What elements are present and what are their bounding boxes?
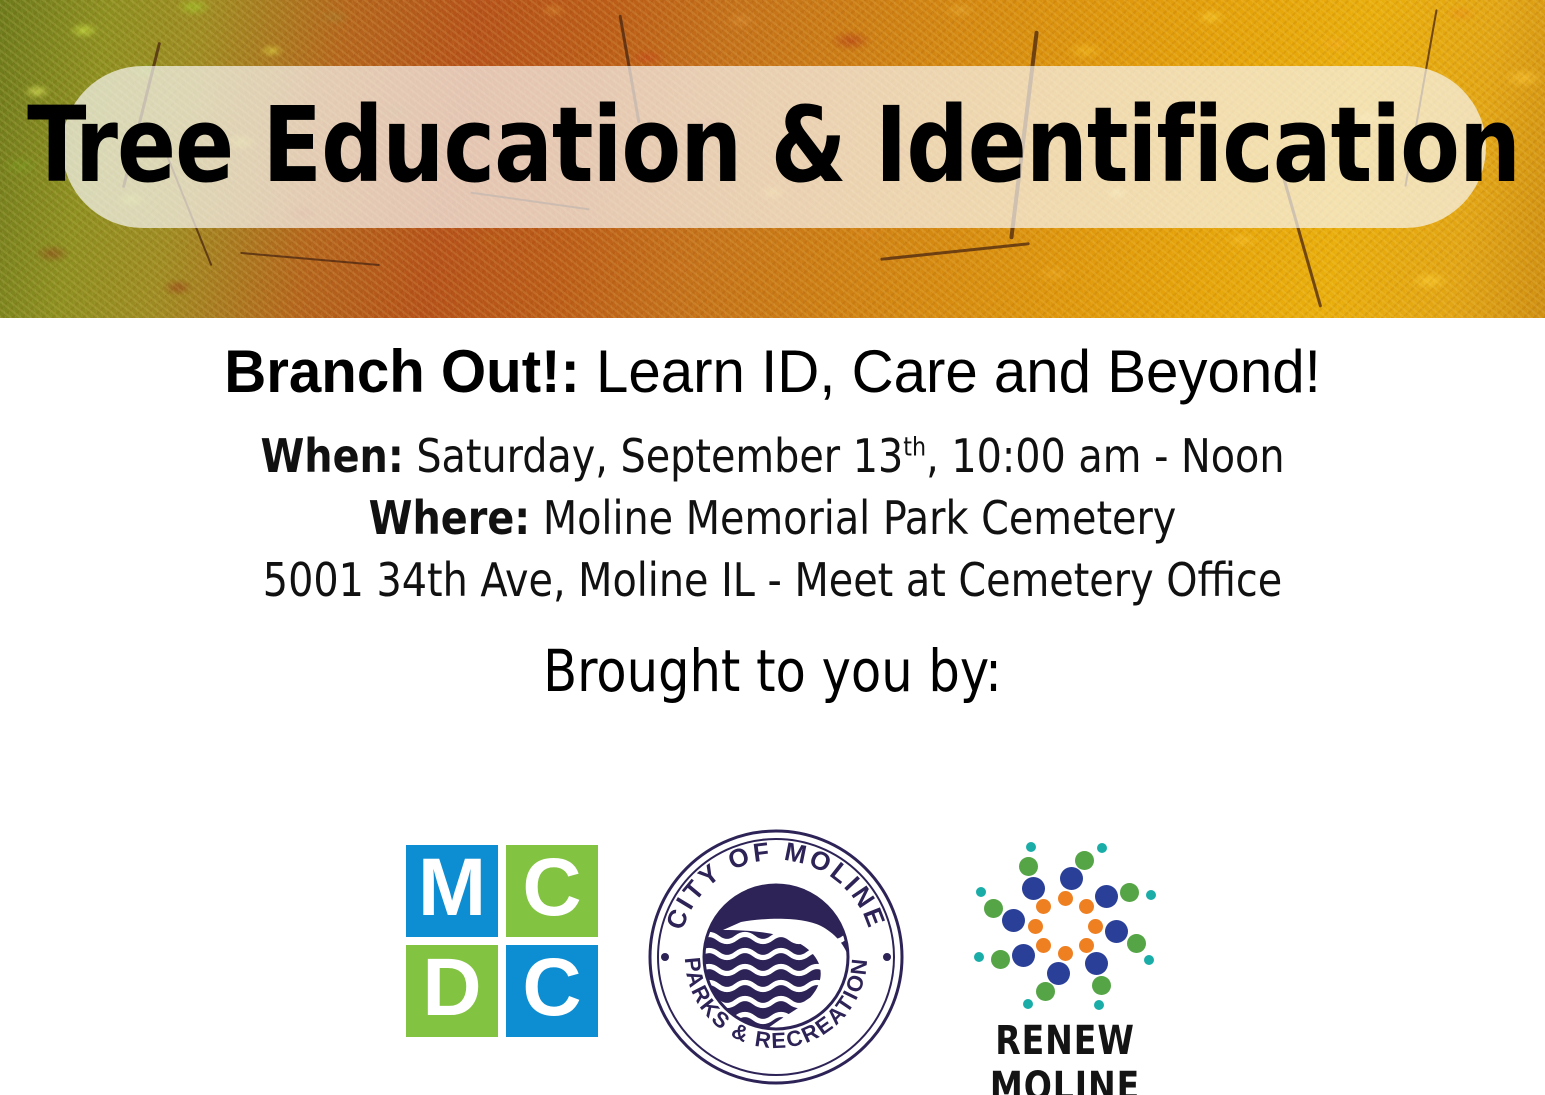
seal-left-dot	[661, 953, 669, 961]
renew-dot	[1075, 851, 1094, 870]
renew-dot	[1019, 857, 1038, 876]
renew-dot	[1127, 934, 1146, 953]
renew-dot	[1023, 999, 1033, 1009]
renew-dot	[1079, 938, 1094, 953]
mcdc-letter-c-bottom: C	[522, 947, 581, 1029]
renew-dot	[976, 887, 986, 897]
brought-to-you-by-label: Brought to you by:	[39, 637, 1507, 705]
when-label: When:	[260, 429, 403, 483]
renew-dot	[1085, 952, 1108, 975]
renew-dot	[1120, 883, 1139, 902]
when-value-post: , 10:00 am - Noon	[926, 429, 1284, 483]
renew-dot	[1036, 899, 1051, 914]
seal-svg: CITY OF MOLINE PARKS & RECREATION	[645, 826, 907, 1088]
mcdc-cell-m: M	[406, 845, 498, 937]
flyer-canvas: Tree Education & Identification Branch O…	[0, 0, 1545, 1095]
event-details: Branch Out!: Learn ID, Care and Beyond! …	[0, 318, 1545, 705]
renew-dot	[1079, 899, 1094, 914]
mcdc-logo-grid: M C D C	[406, 845, 598, 1037]
mcdc-cell-c-bottom: C	[506, 945, 598, 1037]
event-address-line: 5001 34th Ave, Moline IL - Meet at Cemet…	[31, 549, 1514, 611]
sponsor-logos: M C D C	[0, 826, 1545, 1088]
renew-dot	[1036, 982, 1055, 1001]
renew-dot	[1058, 946, 1073, 961]
event-headline: Branch Out!: Learn ID, Care and Beyond!	[23, 340, 1522, 405]
renew-dot	[1047, 962, 1070, 985]
event-where-line: Where: Moline Memorial Park Cemetery	[31, 487, 1514, 549]
renew-dot	[1022, 877, 1045, 900]
headline-rest-part: Learn ID, Care and Beyond!	[580, 338, 1321, 405]
mcdc-letter-m: M	[418, 847, 486, 929]
renew-dot	[1012, 944, 1035, 967]
when-ordinal-suffix: th	[903, 432, 926, 462]
event-when-line: When: Saturday, September 13th, 10:00 am…	[31, 425, 1514, 487]
renew-dot	[1095, 885, 1118, 908]
renew-dot	[974, 952, 984, 962]
mcdc-letter-d: D	[422, 947, 481, 1029]
seal-right-dot	[883, 953, 891, 961]
mcdc-cell-c-top: C	[506, 845, 598, 937]
title-banner-pill: Tree Education & Identification	[62, 66, 1486, 228]
renew-dot	[1094, 1000, 1104, 1010]
renew-dot	[984, 899, 1003, 918]
renew-dot	[1144, 955, 1154, 965]
renew-dot	[1060, 867, 1083, 890]
mcdc-logo: M C D C	[406, 845, 598, 1037]
renew-dot	[991, 950, 1010, 969]
renew-dot	[1026, 842, 1036, 852]
hero-banner: Tree Education & Identification	[0, 0, 1545, 318]
renew-dot	[1146, 890, 1156, 900]
renew-dot	[1105, 920, 1128, 943]
headline-bold-part: Branch Out!:	[224, 338, 580, 405]
renew-dot	[1092, 976, 1111, 995]
renew-dot	[1088, 919, 1103, 934]
city-of-moline-parks-recreation-seal: CITY OF MOLINE PARKS & RECREATION	[645, 826, 907, 1088]
when-value-pre: Saturday, September 13	[404, 429, 904, 483]
where-value: Moline Memorial Park Cemetery	[530, 491, 1176, 545]
renew-moline-dot-burst	[965, 840, 1165, 1012]
renew-dot	[1028, 919, 1043, 934]
renew-moline-logo: RENEW MOLINE	[955, 840, 1175, 1064]
renew-dot	[1097, 843, 1107, 853]
renew-dot	[1002, 909, 1025, 932]
where-label: Where:	[369, 491, 531, 545]
renew-dot	[1058, 891, 1073, 906]
renew-dot	[1036, 938, 1051, 953]
page-title: Tree Education & Identification	[28, 93, 1521, 197]
mcdc-cell-d: D	[406, 945, 498, 1037]
renew-moline-wordmark: RENEW MOLINE	[964, 1018, 1166, 1095]
mcdc-letter-c-top: C	[522, 847, 581, 929]
